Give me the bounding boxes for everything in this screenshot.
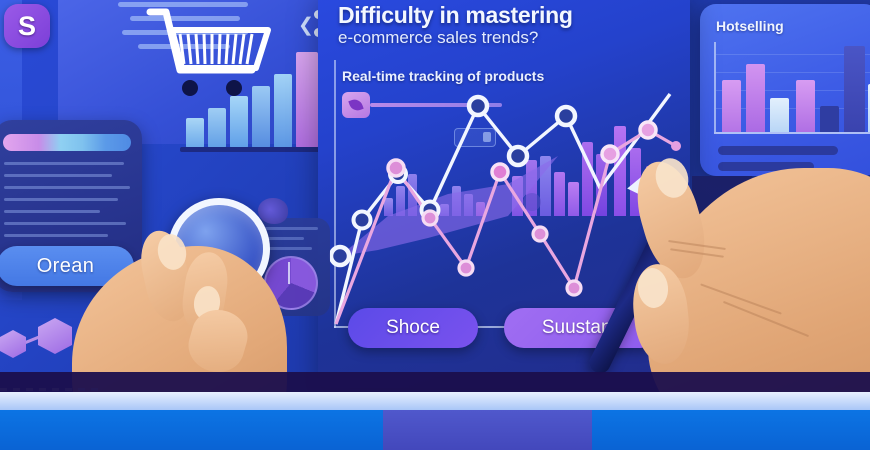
left-info-card: Orean [0,120,142,292]
bar [770,98,789,132]
primary-cta-label: Shoce [386,317,440,339]
cloud-icon [258,198,288,224]
bar [796,80,815,132]
card-row [4,162,124,165]
top-right-panel: Hotselling [700,4,870,176]
card-row [4,186,130,189]
bar [274,74,292,148]
primary-cta-button[interactable]: Shoce [348,308,478,348]
bar [230,96,248,148]
x-axis [714,132,870,134]
chevron-left-icon: ❮ [298,14,314,37]
decor-dot [523,193,541,211]
top-right-panel-title: Hotselling [716,18,784,34]
bottom-segment [0,410,383,450]
bar [252,86,270,148]
bottom-light-strip [0,392,870,410]
y-axis [714,42,716,132]
hexagon-node-icon [0,330,26,358]
bar [186,118,204,148]
bottom-dark-strip [0,372,870,394]
bar [722,80,741,132]
card-row [4,234,108,237]
brand-badge: S [4,4,50,48]
bottom-segment [592,410,870,450]
category-gradient-bar [3,134,131,151]
pie-pointer [288,262,290,284]
brand-badge-label: S [18,11,36,42]
main-dashboard-board: Visualizing sales data Difficulty in mas… [318,0,690,388]
hexagon-node-icon [38,318,72,354]
card-row [4,210,100,213]
panel-footer-row [718,146,838,155]
bar [820,106,839,132]
bar [296,52,318,148]
card-row [4,198,118,201]
orean-button-label: Orean [37,255,95,278]
bar [208,108,226,148]
card-row [4,222,126,225]
bar [844,46,865,132]
bar [746,64,765,132]
card-row [4,174,112,177]
bottom-segment [383,410,592,450]
illustration-canvas: S ❮ [0,0,870,450]
